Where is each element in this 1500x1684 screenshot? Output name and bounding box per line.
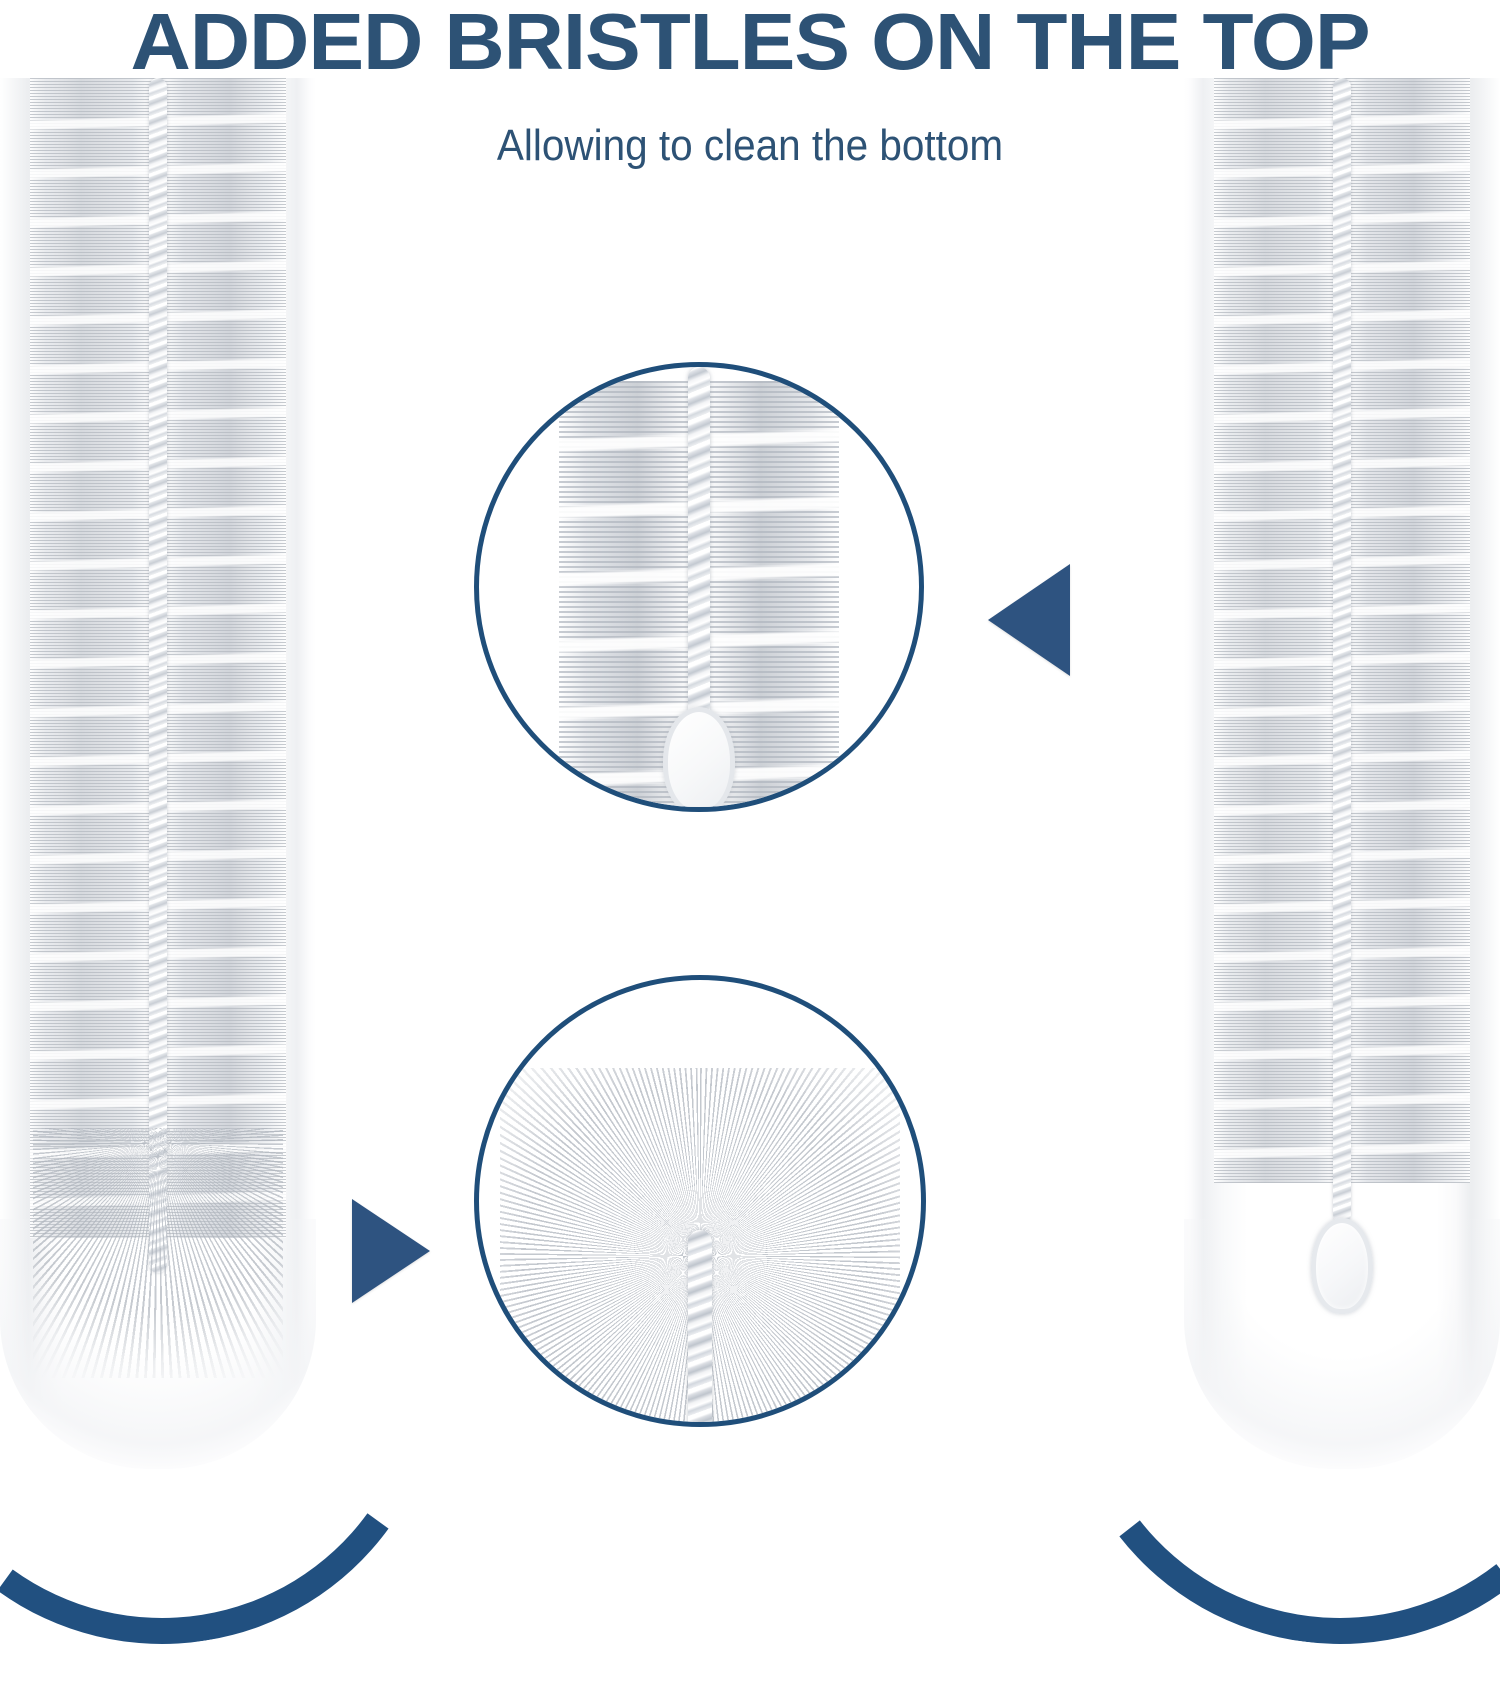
decorative-crescent-right (1028, 1052, 1500, 1676)
arrow-left-icon (988, 564, 1070, 676)
callout-added-bottom-bristles (474, 975, 926, 1427)
page-title: ADDED BRISTLES ON THE TOP (0, 2, 1500, 84)
brush-wire-spine-right (1333, 78, 1351, 1223)
page-subtitle: Allowing to clean the bottom (60, 120, 1440, 172)
callout-wire-loop-tip (474, 362, 924, 812)
callout-bottom-wire-spine (688, 1230, 712, 1427)
arrow-right-icon (352, 1199, 430, 1303)
callout-top-wire-loop (663, 707, 735, 812)
decorative-crescent-left (0, 1044, 482, 1684)
callout-top-wire-spine (688, 367, 710, 719)
